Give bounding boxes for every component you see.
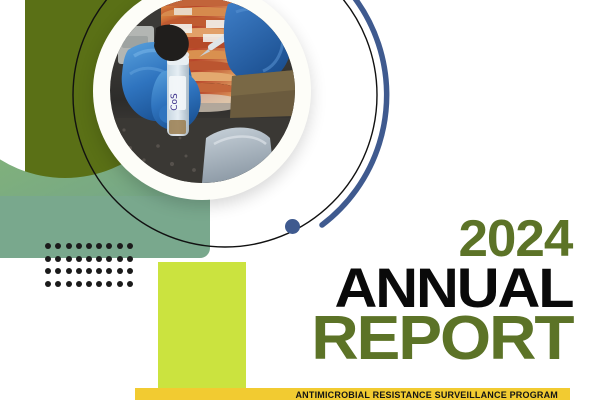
lime-vertical-bar <box>158 262 246 390</box>
blue-accent-dot <box>285 219 300 234</box>
subtitle-text: ANTIMICROBIAL RESISTANCE SURVEILLANCE PR… <box>295 390 558 400</box>
svg-text:CoS: CoS <box>170 93 180 111</box>
annual-report-cover: CoS 2024 ANNUAL REPORT <box>0 0 600 400</box>
dot-grid-pattern <box>43 240 135 290</box>
laboratory-photo: CoS <box>110 0 295 183</box>
subtitle-banner: ANTIMICROBIAL RESISTANCE SURVEILLANCE PR… <box>135 388 570 400</box>
title-line-report: REPORT <box>311 314 572 365</box>
page-title: 2024 ANNUAL REPORT <box>326 218 572 364</box>
report-year: 2024 <box>321 218 572 261</box>
